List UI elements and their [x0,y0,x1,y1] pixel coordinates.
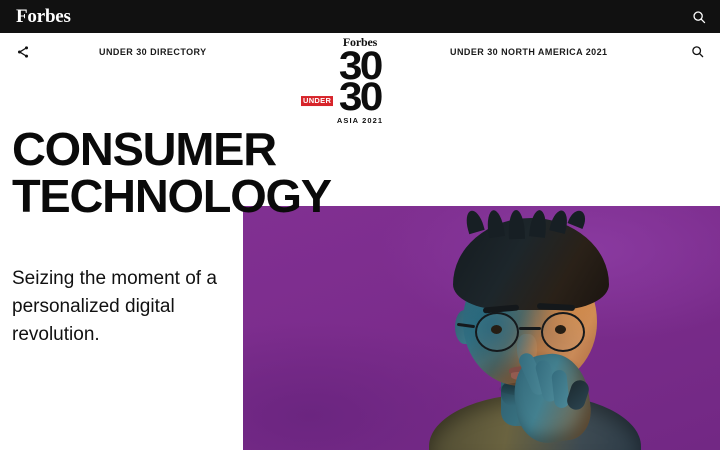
headline-line-1: CONSUMER [12,128,720,172]
hero-portrait-image [243,206,720,450]
search-icon [692,10,706,24]
subject-hair-detail [463,209,484,235]
nav-search-button[interactable] [686,41,708,63]
share-icon [16,45,30,59]
badge-number-bottom: 30 [339,81,381,114]
site-header-bar: Forbes [0,0,720,33]
header-search-button[interactable] [688,6,710,28]
eyeglass-bridge [519,327,541,330]
subject-hair-detail [529,209,548,238]
eyeglass-lens-right [541,312,585,352]
nav-link-under-30-directory[interactable]: UNDER 30 DIRECTORY [99,47,207,57]
nav-link-under-30-north-america-2021[interactable]: UNDER 30 NORTH AMERICA 2021 [450,47,608,57]
forbes-under30-article-page: Forbes UNDER 30 DIRECTORY UNDER 30 NORTH… [0,0,720,450]
badge-number-row-bottom: UNDER 30 [299,80,421,114]
subject-hair-detail [568,208,589,229]
forbes-wordmark-logo[interactable]: Forbes [16,7,71,26]
subject-eyeglasses [471,312,603,352]
subject-hair-detail [485,209,505,238]
badge-under-label: UNDER [301,96,333,106]
page-title: CONSUMER TECHNOLOGY [12,128,712,218]
eyeglass-lens-left [475,312,519,352]
subject-hair-detail [508,210,525,240]
share-button[interactable] [12,41,34,63]
under-30-badge-logo[interactable]: Forbes 30 UNDER 30 ASIA 2021 [299,36,421,125]
portrait-subject-figure [419,206,649,450]
article-deck-text: Seizing the moment of a personalized dig… [12,265,227,349]
search-icon [691,45,704,58]
